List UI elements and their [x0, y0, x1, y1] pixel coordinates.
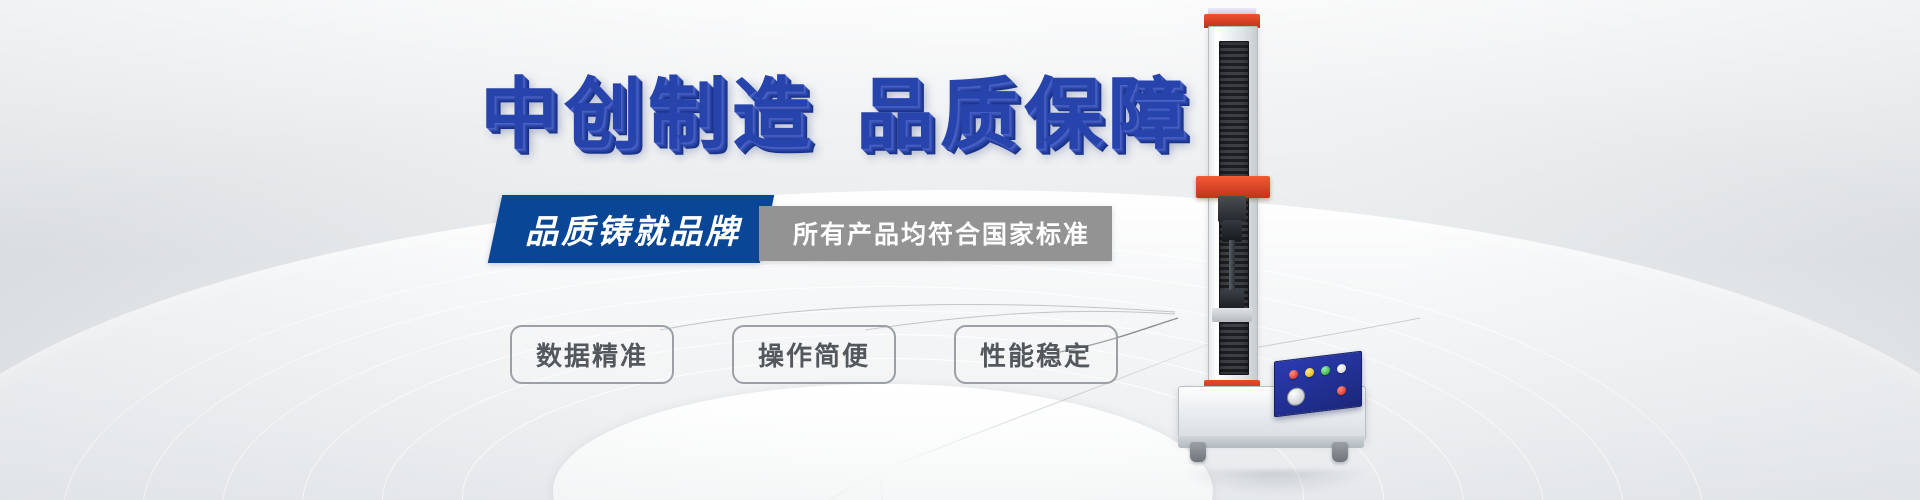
feature-tag-list: 数据精准 操作简便 性能稳定	[510, 325, 1118, 384]
upper-grip	[1222, 220, 1242, 242]
control-panel[interactable]	[1274, 351, 1362, 418]
panel-knob[interactable]	[1287, 387, 1305, 407]
crosshead	[1196, 176, 1270, 198]
ribbon-blue-label: 品质铸就品牌	[525, 205, 741, 253]
headline-part-1: 中创制造	[480, 70, 816, 160]
feature-tag-easy-operation: 操作简便	[732, 325, 896, 384]
feature-tag-stable-performance: 性能稳定	[954, 325, 1118, 384]
ribbon-blue-badge: 品质铸就品牌	[488, 195, 774, 263]
product-image-testing-machine	[1178, 8, 1398, 468]
panel-button-white[interactable]	[1337, 364, 1346, 374]
panel-button-stop[interactable]	[1337, 386, 1346, 396]
ribbon-gray-badge: 所有产品均符合国家标准	[759, 206, 1112, 261]
panel-button-red[interactable]	[1289, 369, 1298, 379]
subtitle-ribbon: 品质铸就品牌 所有产品均符合国家标准	[495, 195, 1112, 263]
page-title: 中创制造品质保障	[480, 52, 1192, 164]
floor-seam-3	[880, 470, 902, 500]
caster-left	[1190, 442, 1206, 462]
load-cell	[1218, 196, 1246, 222]
headline-part-2: 品质保障	[856, 70, 1192, 160]
panel-button-yellow[interactable]	[1305, 367, 1314, 377]
lower-grip	[1220, 290, 1244, 310]
stage-platform	[553, 384, 1213, 500]
machine-shadow	[1180, 470, 1370, 496]
feature-tag-data-accuracy: 数据精准	[510, 325, 674, 384]
test-specimen	[1229, 240, 1235, 294]
promo-banner: 中创制造品质保障 品质铸就品牌 所有产品均符合国家标准 数据精准 操作简便 性能…	[0, 0, 1920, 500]
lower-fixture	[1212, 308, 1252, 322]
floor-seam-2	[481, 470, 880, 500]
panel-button-green[interactable]	[1321, 366, 1330, 376]
caster-right	[1332, 442, 1348, 462]
